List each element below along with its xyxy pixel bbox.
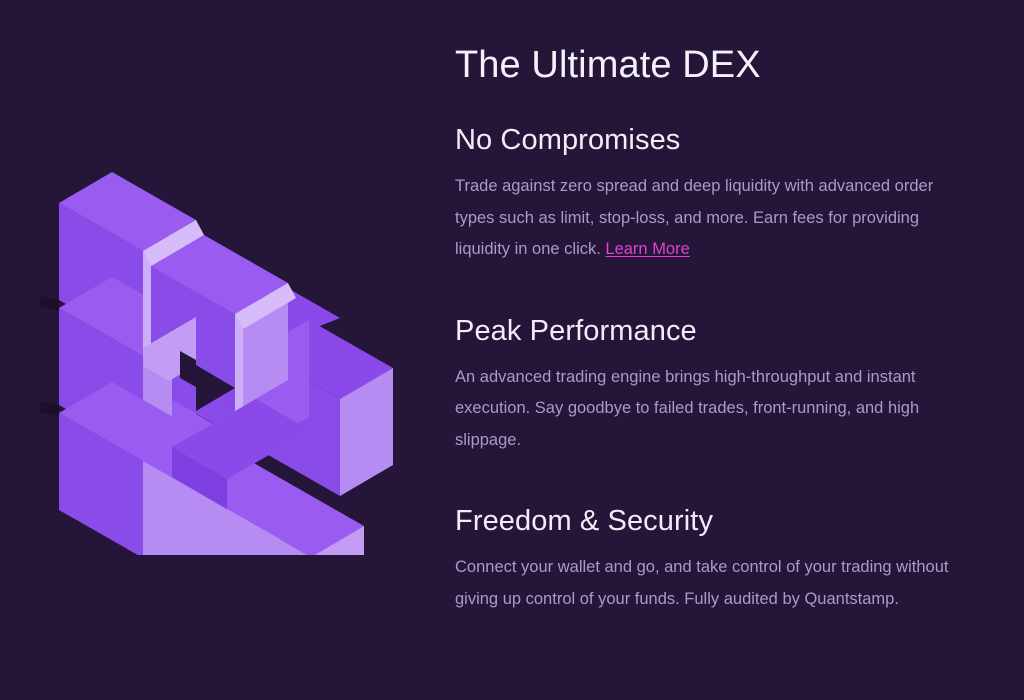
section-body-text: Trade against zero spread and deep liqui… bbox=[455, 177, 933, 258]
landing-hero-section: The Ultimate DEX No Compromises Trade ag… bbox=[0, 0, 1024, 700]
feature-sections: No Compromises Trade against zero spread… bbox=[455, 122, 985, 615]
feature-section-freedom-security: Freedom & Security Connect your wallet a… bbox=[455, 503, 985, 615]
page-title: The Ultimate DEX bbox=[455, 42, 761, 88]
section-heading: Freedom & Security bbox=[455, 503, 985, 540]
section-body: Connect your wallet and go, and take con… bbox=[455, 552, 970, 615]
logo-pane bbox=[0, 0, 440, 700]
feature-section-no-compromises: No Compromises Trade against zero spread… bbox=[455, 122, 985, 266]
section-body: Trade against zero spread and deep liqui… bbox=[455, 171, 970, 266]
section-body: An advanced trading engine brings high-t… bbox=[455, 362, 970, 457]
section-heading: No Compromises bbox=[455, 122, 985, 159]
feature-section-peak-performance: Peak Performance An advanced trading eng… bbox=[455, 313, 985, 457]
section-heading: Peak Performance bbox=[455, 313, 985, 350]
penrose-triangle-logo bbox=[28, 155, 408, 555]
section-body-text: An advanced trading engine brings high-t… bbox=[455, 368, 919, 449]
section-body-text: Connect your wallet and go, and take con… bbox=[455, 558, 948, 608]
logo-cubes bbox=[40, 172, 393, 555]
learn-more-link[interactable]: Learn More bbox=[605, 240, 689, 258]
logo-edge-notch bbox=[40, 296, 59, 311]
logo-edge-notch bbox=[40, 401, 59, 416]
